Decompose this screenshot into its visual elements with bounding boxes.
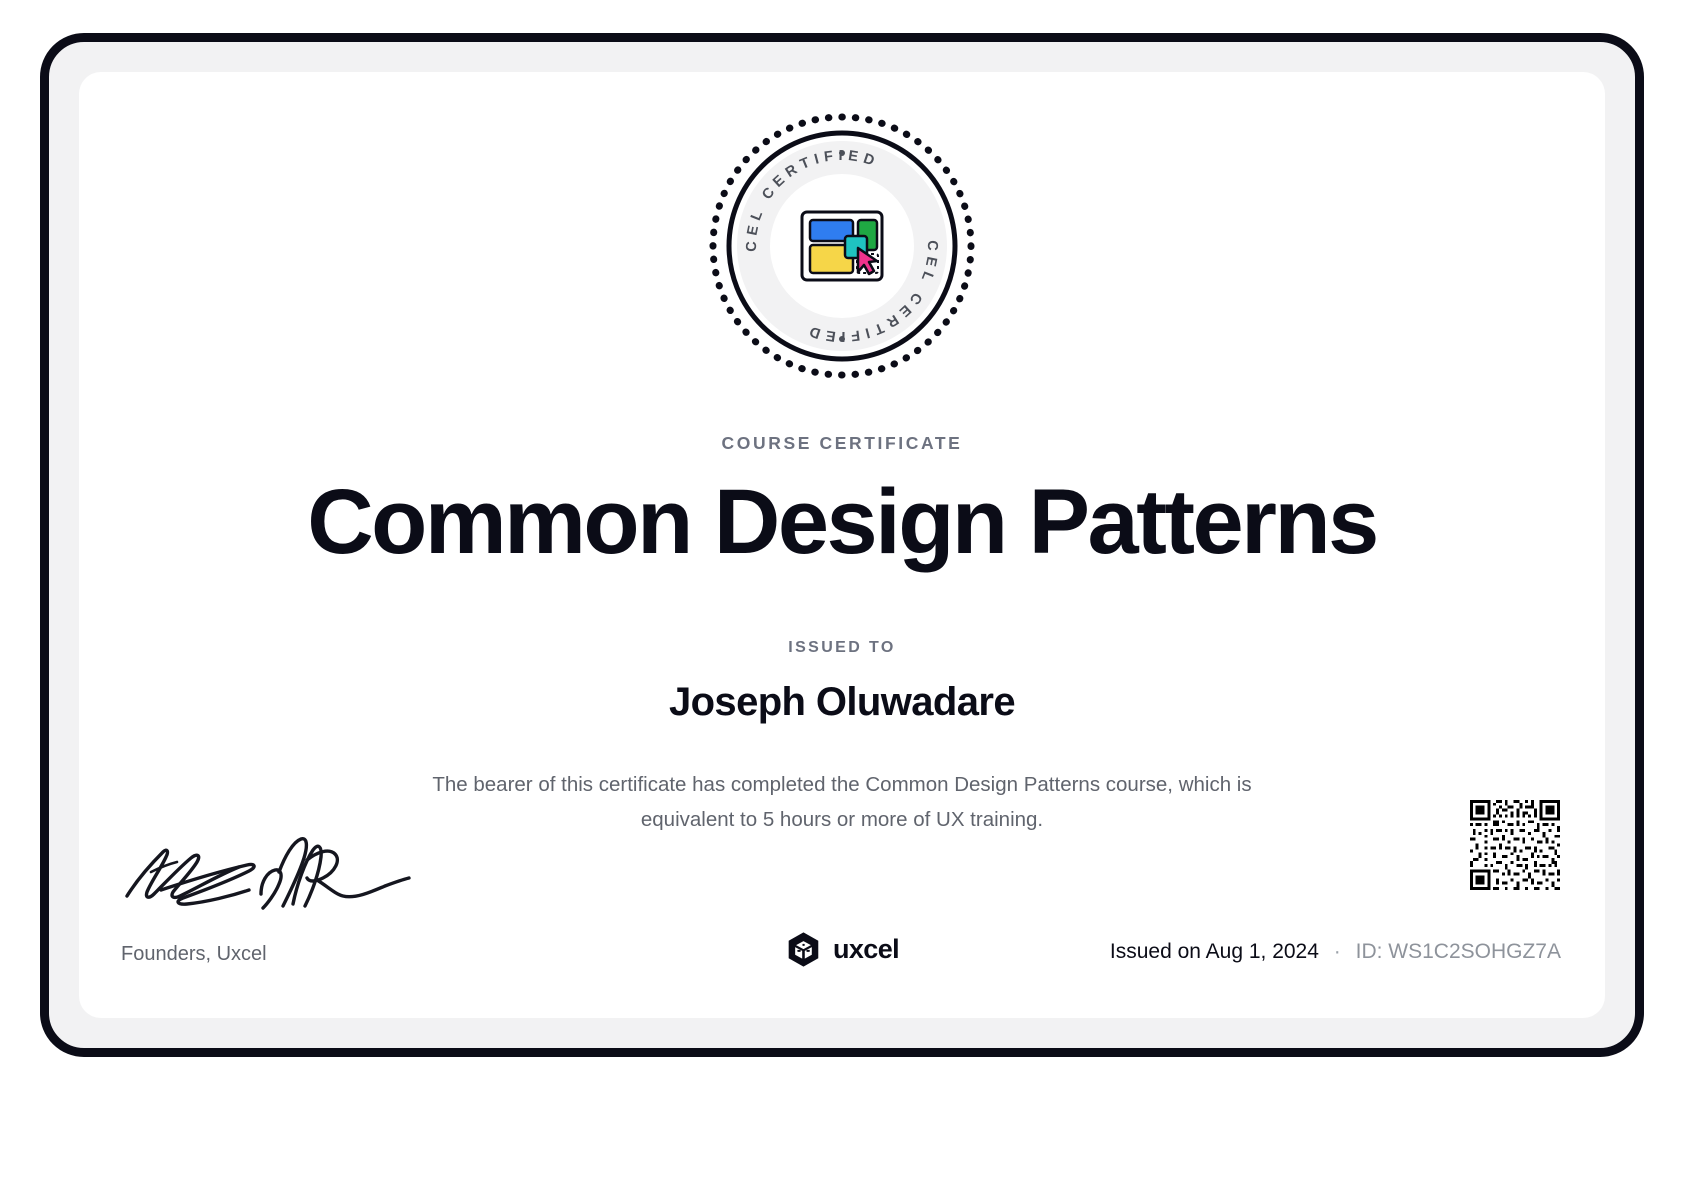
recipient-name: Joseph Oluwadare <box>79 680 1605 725</box>
course-title: Common Design Patterns <box>79 474 1605 571</box>
certificate-description: The bearer of this certificate has compl… <box>432 767 1252 838</box>
verification-qr-code[interactable] <box>1467 797 1563 893</box>
signature-caption: Founders, Uxcel <box>121 943 267 966</box>
design-patterns-icon <box>802 212 882 280</box>
uxcel-brand-logo: uxcel <box>785 931 899 968</box>
founder-signatures <box>121 820 421 910</box>
certificate-id: ID: WS1C2SOHGZ7A <box>1356 940 1561 963</box>
issue-metadata: Issued on Aug 1, 2024 · ID: WS1C2SOHGZ7A <box>1110 940 1561 964</box>
uxcel-wordmark: uxcel <box>833 934 899 965</box>
eyebrow-label: COURSE CERTIFICATE <box>79 433 1605 454</box>
issued-to-label: ISSUED TO <box>79 639 1605 657</box>
qr-code-graphic <box>1467 797 1563 893</box>
meta-separator: · <box>1334 940 1341 963</box>
signature-graphic <box>121 820 421 910</box>
certificate-card: UXCEL CERTIFIED UXCEL CERTIFIED <box>79 72 1605 1018</box>
description-line-1: The bearer of this certificate has compl… <box>432 773 1100 796</box>
certificate-frame: UXCEL CERTIFIED UXCEL CERTIFIED <box>40 33 1644 1057</box>
uxcel-hexagon-logo-icon <box>785 931 822 968</box>
seal-graphic: UXCEL CERTIFIED UXCEL CERTIFIED <box>708 112 976 380</box>
issued-on-date: Issued on Aug 1, 2024 <box>1110 940 1319 963</box>
certification-seal: UXCEL CERTIFIED UXCEL CERTIFIED <box>708 112 976 380</box>
